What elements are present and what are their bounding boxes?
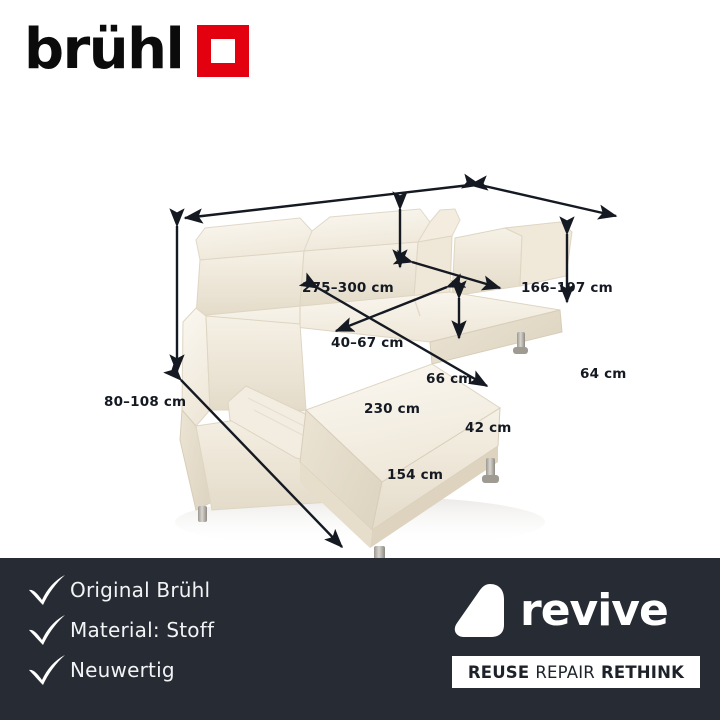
feature-item: Original Brühl: [26, 570, 396, 610]
dim-label-backrest-height: 40–67 cm: [331, 335, 404, 351]
dim-label-armrest-height: 64 cm: [580, 366, 627, 382]
check-icon: [26, 653, 70, 687]
product-photo: 275–300 cm 166–197 cm 40–67 cm 66 cm 64 …: [0, 110, 720, 558]
brand-name: brühl: [24, 22, 183, 78]
revive-pebble-icon: [452, 583, 514, 639]
feature-item: Material: Stoff: [26, 610, 396, 650]
dim-label-width-total: 275–300 cm: [302, 280, 394, 296]
dim-label-seat-depth: 66 cm: [426, 371, 473, 387]
feature-label: Material: Stoff: [70, 618, 214, 642]
dim-label-chaise-length: 154 cm: [387, 467, 443, 483]
feature-label: Neuwertig: [70, 658, 175, 682]
feature-list: Original Brühl Material: Stoff Neuwertig: [26, 570, 396, 690]
check-icon: [26, 613, 70, 647]
tagline-reuse: REUSE: [468, 663, 530, 682]
dim-label-depth-total: 166–197 cm: [521, 280, 613, 296]
info-banner: Original Brühl Material: Stoff Neuwertig: [0, 558, 720, 720]
brand-logo: brühl: [24, 22, 249, 78]
check-icon: [26, 573, 70, 607]
tagline-rethink: RETHINK: [601, 663, 684, 682]
revive-logo: revive REUSE REPAIR RETHINK: [452, 580, 700, 688]
dim-label-seat-width: 230 cm: [364, 401, 420, 417]
feature-label: Original Brühl: [70, 578, 210, 602]
revive-wordmark: revive: [520, 589, 668, 633]
tagline-repair: REPAIR: [535, 663, 595, 682]
dim-label-overall-height: 80–108 cm: [104, 394, 186, 410]
brand-square-inner: [211, 39, 235, 63]
brand-square-icon: [197, 25, 249, 77]
dim-label-seat-height: 42 cm: [465, 420, 512, 436]
feature-item: Neuwertig: [26, 650, 396, 690]
revive-tagline: REUSE REPAIR RETHINK: [452, 656, 700, 688]
dimension-labels: 275–300 cm 166–197 cm 40–67 cm 66 cm 64 …: [0, 110, 720, 558]
product-image: brühl: [0, 0, 720, 720]
